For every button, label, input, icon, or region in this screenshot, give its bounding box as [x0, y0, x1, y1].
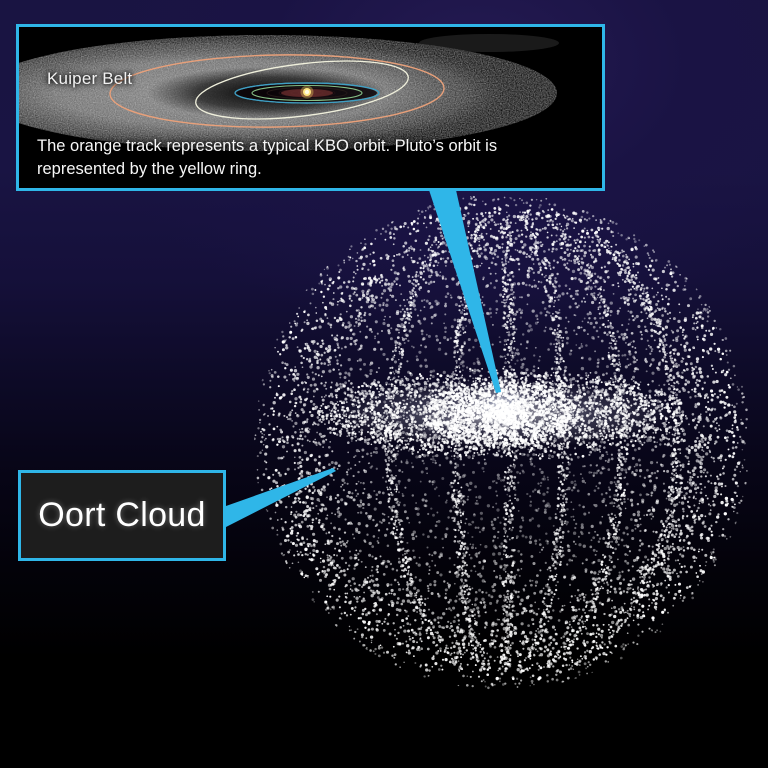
oort-cloud-label: Oort Cloud	[38, 496, 205, 535]
oort-particles	[253, 196, 748, 689]
kuiper-belt-callout[interactable]: Kuiper Belt The orange track represents …	[16, 24, 605, 191]
oort-cloud-callout[interactable]: Oort Cloud	[18, 470, 226, 561]
figure-canvas: Kuiper Belt The orange track represents …	[0, 0, 768, 768]
kuiper-belt-label: Kuiper Belt	[47, 69, 132, 89]
sun-icon	[301, 86, 314, 99]
kuiper-belt-caption: The orange track represents a typical KB…	[37, 135, 589, 181]
oort-cloud-sphere	[252, 192, 752, 692]
